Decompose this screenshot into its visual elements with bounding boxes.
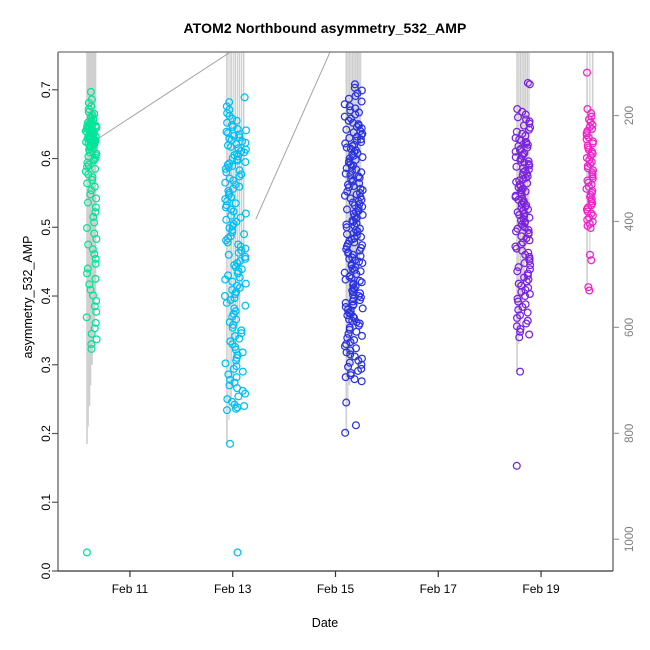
data-point (234, 549, 241, 556)
data-point (222, 360, 229, 367)
x-tick-label: Feb 19 (522, 582, 560, 596)
y-tick-label: 0.6 (39, 150, 53, 167)
data-point (242, 280, 249, 287)
data-point (358, 279, 365, 286)
scatter-plot-canvas: 0.00.10.20.30.40.50.60.72004006008001000… (0, 0, 650, 650)
data-point (241, 403, 248, 410)
data-point (353, 422, 360, 429)
y-tick-label: 0.2 (39, 425, 53, 442)
data-point (359, 305, 366, 312)
y2-tick-label: 200 (624, 106, 636, 125)
data-point (84, 549, 91, 556)
data-point (342, 429, 349, 436)
data-point (517, 368, 524, 375)
x-tick-label: Feb 13 (214, 582, 252, 596)
y2-tick-label: 1000 (624, 526, 636, 552)
series-3 (341, 81, 366, 436)
data-point (239, 368, 246, 375)
data-point (359, 333, 366, 340)
x-tick-label: Feb 17 (420, 582, 458, 596)
data-point (513, 462, 520, 469)
y-tick-label: 0.7 (39, 81, 53, 98)
y2-tick-label: 600 (624, 318, 636, 337)
data-point (526, 331, 533, 338)
data-point (351, 376, 358, 383)
data-point (233, 405, 240, 412)
data-point (227, 440, 234, 447)
connector-line (256, 34, 338, 219)
data-point (524, 309, 531, 316)
series-2 (222, 94, 250, 556)
x-tick-label: Feb 11 (112, 582, 149, 596)
data-layer (82, 32, 596, 556)
data-point (235, 393, 242, 400)
series-4 (512, 80, 534, 470)
chart-root: ATOM2 Northbound asymmetry_532_AMP asymm… (0, 0, 650, 650)
axes-layer: 0.00.10.20.30.40.50.60.72004006008001000… (39, 52, 636, 596)
data-point (241, 94, 248, 101)
y-tick-label: 0.3 (39, 356, 53, 373)
y-tick-label: 0.4 (39, 287, 53, 304)
x-tick-label: Feb 15 (317, 582, 355, 596)
data-point (358, 378, 365, 385)
data-point (242, 302, 249, 309)
y-tick-label: 0.0 (39, 562, 53, 579)
y2-tick-label: 800 (624, 424, 636, 443)
y-tick-label: 0.5 (39, 219, 53, 236)
y-tick-label: 0.1 (39, 494, 53, 511)
y2-tick-label: 400 (624, 212, 636, 231)
